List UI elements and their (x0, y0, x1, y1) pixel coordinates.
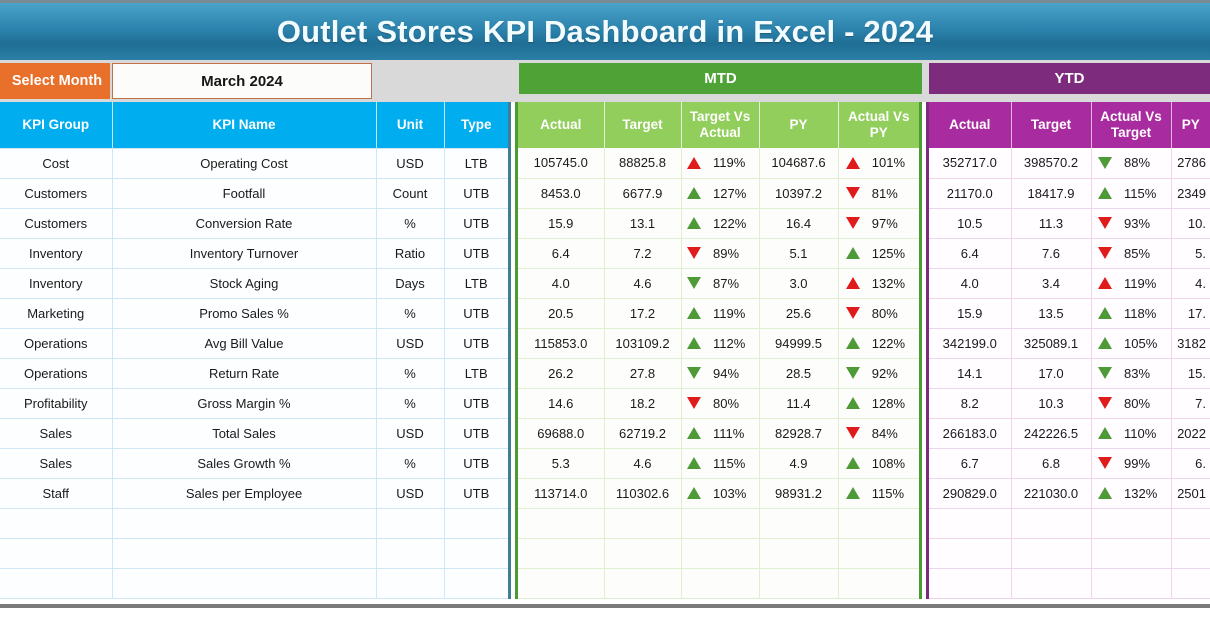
empty-cell (444, 538, 508, 568)
kpi-type-cell: UTB (444, 388, 508, 418)
kpi-type-cell: UTB (444, 418, 508, 448)
table-row[interactable]: StaffSales per EmployeeUSDUTB (0, 478, 508, 508)
percent-value: 127% (713, 186, 753, 201)
ytd-actual-vs-target-cell: 88% (1091, 148, 1171, 178)
triangle-up-icon (846, 157, 860, 169)
triangle-up-icon (846, 487, 860, 499)
triangle-down-icon (846, 307, 860, 319)
percent-value: 122% (872, 336, 912, 351)
kpi-unit-cell: % (376, 298, 444, 328)
kpi-unit-cell: % (376, 358, 444, 388)
mtd-py-cell: 98931.2 (759, 478, 838, 508)
kpi-type-cell: LTB (444, 148, 508, 178)
triangle-up-icon (846, 337, 860, 349)
table-row[interactable]: OperationsReturn Rate%LTB (0, 358, 508, 388)
kpi-grid: KPI GroupKPI NameUnitType CostOperating … (0, 102, 1210, 612)
empty-cell (1011, 508, 1091, 538)
percent-value: 119% (713, 155, 753, 170)
table-row[interactable]: 8.210.380%7. (929, 388, 1210, 418)
ytd-py-cell: 2349 (1171, 178, 1210, 208)
ytd-py-cell: 3182 (1171, 328, 1210, 358)
mtd-actual-cell: 20.5 (518, 298, 604, 328)
percent-value: 93% (1124, 216, 1164, 231)
mtd-target-vs-actual-cell: 112% (681, 328, 759, 358)
percent-value: 108% (872, 456, 912, 471)
empty-cell (1091, 538, 1171, 568)
ytd-col-actual-vs-target[interactable]: Actual Vs Target (1091, 102, 1171, 148)
ytd-actual-cell: 6.7 (929, 448, 1011, 478)
ytd-actual-cell: 290829.0 (929, 478, 1011, 508)
table-row[interactable]: 5.34.6115%4.9108% (518, 448, 919, 478)
kpi-name-cell: Inventory Turnover (112, 238, 376, 268)
table-row[interactable]: 14.117.083%15. (929, 358, 1210, 388)
ytd-target-cell: 11.3 (1011, 208, 1091, 238)
empty-cell (1011, 538, 1091, 568)
mtd-py-cell: 104687.6 (759, 148, 838, 178)
table-row[interactable]: 69688.062719.2111%82928.784% (518, 418, 919, 448)
ytd-actual-vs-target-cell: 132% (1091, 478, 1171, 508)
mtd-target-vs-actual-cell: 119% (681, 148, 759, 178)
mtd-target-vs-actual-cell: 115% (681, 448, 759, 478)
kpi-type-cell: LTB (444, 358, 508, 388)
percent-value: 85% (1124, 246, 1164, 261)
mtd-py-cell: 16.4 (759, 208, 838, 238)
mtd-py-cell: 94999.5 (759, 328, 838, 358)
triangle-up-icon (1098, 277, 1112, 289)
kpi-name-cell: Sales per Employee (112, 478, 376, 508)
ytd-actual-cell: 352717.0 (929, 148, 1011, 178)
mtd-col-target[interactable]: Target (604, 102, 681, 148)
percent-value: 80% (872, 306, 912, 321)
empty-cell (759, 568, 838, 598)
kpi-type-cell: UTB (444, 328, 508, 358)
mtd-target-cell: 7.2 (604, 238, 681, 268)
kpi-group-cell: Sales (0, 418, 112, 448)
mtd-py-cell: 82928.7 (759, 418, 838, 448)
empty-cell (838, 568, 919, 598)
mtd-target-vs-actual-cell: 127% (681, 178, 759, 208)
mtd-col-target-vs-actual[interactable]: Target Vs Actual (681, 102, 759, 148)
ytd-py-cell: 7. (1171, 388, 1210, 418)
mtd-actual-vs-py-cell: 115% (838, 478, 919, 508)
table-row[interactable]: 6.47.685%5. (929, 238, 1210, 268)
empty-cell (112, 508, 376, 538)
mtd-body: 105745.088825.8119%104687.6101%8453.0667… (518, 148, 919, 598)
triangle-down-icon (1098, 247, 1112, 259)
mtd-actual-cell: 113714.0 (518, 478, 604, 508)
kpi-type-cell: UTB (444, 178, 508, 208)
kpi-group-cell: Cost (0, 148, 112, 178)
table-row[interactable]: 21170.018417.9115%2349 (929, 178, 1210, 208)
table-row[interactable]: 4.03.4119%4. (929, 268, 1210, 298)
kpi-type-cell: UTB (444, 298, 508, 328)
mtd-py-cell: 25.6 (759, 298, 838, 328)
empty-cell (929, 568, 1011, 598)
triangle-up-icon (687, 307, 701, 319)
empty-table-row[interactable] (929, 568, 1210, 598)
triangle-down-icon (846, 187, 860, 199)
table-row[interactable]: 8453.06677.9127%10397.281% (518, 178, 919, 208)
mtd-actual-cell: 5.3 (518, 448, 604, 478)
dashboard-title-banner: Outlet Stores KPI Dashboard in Excel - 2… (0, 0, 1210, 60)
table-row[interactable]: 15.913.1122%16.497% (518, 208, 919, 238)
ytd-target-cell: 17.0 (1011, 358, 1091, 388)
ytd-body: 352717.0398570.288%278621170.018417.9115… (929, 148, 1210, 598)
empty-table-row[interactable] (0, 508, 508, 538)
table-row[interactable]: InventoryStock AgingDaysLTB (0, 268, 508, 298)
mtd-target-cell: 103109.2 (604, 328, 681, 358)
mtd-actual-cell: 4.0 (518, 268, 604, 298)
mtd-actual-cell: 6.4 (518, 238, 604, 268)
kpi-unit-cell: Ratio (376, 238, 444, 268)
mtd-target-cell: 17.2 (604, 298, 681, 328)
ytd-actual-vs-target-cell: 85% (1091, 238, 1171, 268)
empty-cell (376, 538, 444, 568)
ytd-actual-vs-target-cell: 118% (1091, 298, 1171, 328)
mtd-actual-cell: 14.6 (518, 388, 604, 418)
kpi-unit-cell: USD (376, 418, 444, 448)
mtd-target-vs-actual-cell: 94% (681, 358, 759, 388)
mtd-actual-vs-py-cell: 81% (838, 178, 919, 208)
kpi-group-cell: Marketing (0, 298, 112, 328)
table-row[interactable]: 15.913.5118%17. (929, 298, 1210, 328)
percent-value: 92% (872, 366, 912, 381)
kpi-group-cell: Operations (0, 358, 112, 388)
mtd-target-vs-actual-cell: 89% (681, 238, 759, 268)
empty-table-row[interactable] (0, 538, 508, 568)
empty-cell (1091, 568, 1171, 598)
ytd-target-cell: 6.8 (1011, 448, 1091, 478)
triangle-up-icon (1098, 337, 1112, 349)
percent-value: 119% (713, 306, 753, 321)
percent-value: 115% (1124, 186, 1164, 201)
mtd-py-cell: 10397.2 (759, 178, 838, 208)
mtd-actual-cell: 105745.0 (518, 148, 604, 178)
kpi-group-cell: Staff (0, 478, 112, 508)
table-row[interactable]: SalesSales Growth %%UTB (0, 448, 508, 478)
mtd-actual-vs-py-cell: 101% (838, 148, 919, 178)
kpi-group-cell: Inventory (0, 268, 112, 298)
ytd-target-cell: 18417.9 (1011, 178, 1091, 208)
mtd-target-cell: 13.1 (604, 208, 681, 238)
percent-value: 97% (872, 216, 912, 231)
table-row[interactable]: CostOperating CostUSDLTB (0, 148, 508, 178)
kpi-group-cell: Customers (0, 178, 112, 208)
mtd-actual-vs-py-cell: 80% (838, 298, 919, 328)
percent-value: 88% (1124, 155, 1164, 170)
empty-table-row[interactable] (518, 538, 919, 568)
percent-value: 110% (1124, 426, 1164, 441)
mtd-actual-vs-py-cell: 84% (838, 418, 919, 448)
mtd-actual-cell: 69688.0 (518, 418, 604, 448)
table-row[interactable]: CustomersConversion Rate%UTB (0, 208, 508, 238)
mtd-target-cell: 6677.9 (604, 178, 681, 208)
ytd-actual-vs-target-cell: 80% (1091, 388, 1171, 418)
mtd-actual-cell: 8453.0 (518, 178, 604, 208)
ytd-actual-vs-target-cell: 93% (1091, 208, 1171, 238)
table-row[interactable]: InventoryInventory TurnoverRatioUTB (0, 238, 508, 268)
table-row[interactable]: 4.04.687%3.0132% (518, 268, 919, 298)
empty-cell (518, 508, 604, 538)
ytd-py-cell: 2501 (1171, 478, 1210, 508)
kpi-unit-cell: % (376, 388, 444, 418)
table-row[interactable]: 266183.0242226.5110%2022 (929, 418, 1210, 448)
kpi-group-cell: Customers (0, 208, 112, 238)
kpi-col-kpi-name[interactable]: KPI Name (112, 102, 376, 148)
dashboard-root: Outlet Stores KPI Dashboard in Excel - 2… (0, 0, 1210, 618)
empty-cell (929, 538, 1011, 568)
empty-cell (444, 508, 508, 538)
percent-value: 101% (872, 155, 912, 170)
triangle-down-icon (687, 247, 701, 259)
kpi-name-cell: Return Rate (112, 358, 376, 388)
mtd-target-cell: 88825.8 (604, 148, 681, 178)
percent-value: 89% (713, 246, 753, 261)
triangle-down-icon (846, 217, 860, 229)
ytd-actual-cell: 342199.0 (929, 328, 1011, 358)
kpi-unit-cell: % (376, 208, 444, 238)
percent-value: 128% (872, 396, 912, 411)
kpi-unit-cell: USD (376, 328, 444, 358)
kpi-type-cell: UTB (444, 208, 508, 238)
mtd-actual-cell: 15.9 (518, 208, 604, 238)
table-row[interactable]: ProfitabilityGross Margin %%UTB (0, 388, 508, 418)
kpi-info-block: KPI GroupKPI NameUnitType CostOperating … (0, 102, 511, 599)
ytd-actual-cell: 266183.0 (929, 418, 1011, 448)
mtd-target-cell: 110302.6 (604, 478, 681, 508)
ytd-actual-cell: 4.0 (929, 268, 1011, 298)
mtd-actual-vs-py-cell: 92% (838, 358, 919, 388)
mtd-actual-vs-py-cell: 97% (838, 208, 919, 238)
triangle-down-icon (1098, 397, 1112, 409)
mtd-py-cell: 4.9 (759, 448, 838, 478)
empty-cell (838, 538, 919, 568)
empty-cell (759, 508, 838, 538)
kpi-name-cell: Footfall (112, 178, 376, 208)
percent-value: 112% (713, 336, 753, 351)
triangle-up-icon (846, 397, 860, 409)
triangle-down-icon (1098, 457, 1112, 469)
kpi-col-type[interactable]: Type (444, 102, 508, 148)
empty-cell (1011, 568, 1091, 598)
mtd-header-row: ActualTargetTarget Vs ActualPYActual Vs … (518, 102, 919, 148)
percent-value: 99% (1124, 456, 1164, 471)
empty-cell (681, 568, 759, 598)
mtd-col-py[interactable]: PY (759, 102, 838, 148)
kpi-info-header-row: KPI GroupKPI NameUnitType (0, 102, 508, 148)
ytd-section-band: YTD (929, 63, 1210, 94)
empty-cell (0, 538, 112, 568)
table-row[interactable]: 20.517.2119%25.680% (518, 298, 919, 328)
empty-cell (929, 508, 1011, 538)
triangle-down-icon (687, 367, 701, 379)
kpi-name-cell: Operating Cost (112, 148, 376, 178)
triangle-down-icon (846, 427, 860, 439)
percent-value: 81% (872, 186, 912, 201)
empty-cell (518, 568, 604, 598)
mtd-target-cell: 4.6 (604, 268, 681, 298)
empty-table-row[interactable] (929, 508, 1210, 538)
mtd-target-vs-actual-cell: 122% (681, 208, 759, 238)
table-row[interactable]: SalesTotal SalesUSDUTB (0, 418, 508, 448)
ytd-actual-vs-target-cell: 119% (1091, 268, 1171, 298)
empty-cell (604, 508, 681, 538)
kpi-group-cell: Sales (0, 448, 112, 478)
ytd-actual-vs-target-cell: 110% (1091, 418, 1171, 448)
table-row[interactable]: 6.76.899%6. (929, 448, 1210, 478)
mtd-section-band: MTD (519, 63, 922, 94)
ytd-actual-vs-target-cell: 115% (1091, 178, 1171, 208)
triangle-up-icon (846, 277, 860, 289)
table-row[interactable]: 290829.0221030.0132%2501 (929, 478, 1210, 508)
ytd-target-cell: 221030.0 (1011, 478, 1091, 508)
empty-cell (1091, 508, 1171, 538)
empty-cell (604, 538, 681, 568)
empty-cell (681, 538, 759, 568)
percent-value: 132% (872, 276, 912, 291)
mtd-block: ActualTargetTarget Vs ActualPYActual Vs … (515, 102, 922, 599)
ytd-col-target[interactable]: Target (1011, 102, 1091, 148)
triangle-up-icon (687, 187, 701, 199)
mtd-table: ActualTargetTarget Vs ActualPYActual Vs … (518, 102, 919, 599)
table-row[interactable]: 352717.0398570.288%2786 (929, 148, 1210, 178)
mtd-target-vs-actual-cell: 119% (681, 298, 759, 328)
empty-table-row[interactable] (518, 508, 919, 538)
empty-cell (518, 538, 604, 568)
ytd-col-py[interactable]: PY (1171, 102, 1210, 148)
kpi-type-cell: LTB (444, 268, 508, 298)
table-row[interactable]: 342199.0325089.1105%3182 (929, 328, 1210, 358)
mtd-py-cell: 5.1 (759, 238, 838, 268)
ytd-actual-vs-target-cell: 105% (1091, 328, 1171, 358)
triangle-up-icon (687, 457, 701, 469)
ytd-actual-cell: 15.9 (929, 298, 1011, 328)
table-row[interactable]: 115853.0103109.2112%94999.5122% (518, 328, 919, 358)
table-row[interactable]: 113714.0110302.6103%98931.2115% (518, 478, 919, 508)
ytd-actual-cell: 6.4 (929, 238, 1011, 268)
percent-value: 118% (1124, 306, 1164, 321)
mtd-target-vs-actual-cell: 103% (681, 478, 759, 508)
kpi-col-unit[interactable]: Unit (376, 102, 444, 148)
ytd-py-cell: 5. (1171, 238, 1210, 268)
empty-cell (1171, 538, 1210, 568)
table-row[interactable]: MarketingPromo Sales %%UTB (0, 298, 508, 328)
triangle-down-icon (1098, 157, 1112, 169)
triangle-down-icon (1098, 217, 1112, 229)
percent-value: 80% (713, 396, 753, 411)
kpi-group-cell: Profitability (0, 388, 112, 418)
kpi-name-cell: Conversion Rate (112, 208, 376, 238)
triangle-up-icon (1098, 487, 1112, 499)
kpi-type-cell: UTB (444, 448, 508, 478)
triangle-up-icon (687, 427, 701, 439)
triangle-up-icon (687, 157, 701, 169)
kpi-info-body: CostOperating CostUSDLTBCustomersFootfal… (0, 148, 508, 598)
empty-cell (376, 508, 444, 538)
triangle-up-icon (687, 487, 701, 499)
triangle-down-icon (687, 397, 701, 409)
ytd-col-actual[interactable]: Actual (929, 102, 1011, 148)
mtd-col-actual-vs-py[interactable]: Actual Vs PY (838, 102, 919, 148)
ytd-actual-cell: 8.2 (929, 388, 1011, 418)
empty-table-row[interactable] (929, 538, 1210, 568)
mtd-target-vs-actual-cell: 111% (681, 418, 759, 448)
mtd-actual-vs-py-cell: 132% (838, 268, 919, 298)
kpi-name-cell: Promo Sales % (112, 298, 376, 328)
ytd-actual-cell: 21170.0 (929, 178, 1011, 208)
triangle-up-icon (846, 457, 860, 469)
ytd-py-cell: 2022 (1171, 418, 1210, 448)
ytd-target-cell: 13.5 (1011, 298, 1091, 328)
percent-value: 132% (1124, 486, 1164, 501)
kpi-type-cell: UTB (444, 478, 508, 508)
kpi-name-cell: Gross Margin % (112, 388, 376, 418)
empty-cell (444, 568, 508, 598)
percent-value: 84% (872, 426, 912, 441)
empty-cell (0, 508, 112, 538)
kpi-name-cell: Avg Bill Value (112, 328, 376, 358)
table-row[interactable]: 10.511.393%10. (929, 208, 1210, 238)
kpi-info-table: KPI GroupKPI NameUnitType CostOperating … (0, 102, 508, 599)
mtd-actual-vs-py-cell: 108% (838, 448, 919, 478)
percent-value: 87% (713, 276, 753, 291)
bottom-rule (0, 604, 1210, 608)
empty-cell (1171, 568, 1210, 598)
mtd-col-actual[interactable]: Actual (518, 102, 604, 148)
ytd-py-cell: 17. (1171, 298, 1210, 328)
mtd-target-vs-actual-cell: 80% (681, 388, 759, 418)
table-row[interactable]: 26.227.894%28.592% (518, 358, 919, 388)
kpi-type-cell: UTB (444, 238, 508, 268)
table-row[interactable]: 6.47.289%5.1125% (518, 238, 919, 268)
kpi-name-cell: Total Sales (112, 418, 376, 448)
empty-cell (112, 568, 376, 598)
page-title: Outlet Stores KPI Dashboard in Excel - 2… (277, 14, 933, 50)
percent-value: 83% (1124, 366, 1164, 381)
table-row[interactable]: CustomersFootfallCountUTB (0, 178, 508, 208)
empty-cell (604, 568, 681, 598)
ytd-py-cell: 15. (1171, 358, 1210, 388)
percent-value: 122% (713, 216, 753, 231)
ytd-py-cell: 4. (1171, 268, 1210, 298)
empty-cell (681, 508, 759, 538)
mtd-py-cell: 11.4 (759, 388, 838, 418)
ytd-target-cell: 242226.5 (1011, 418, 1091, 448)
empty-table-row[interactable] (518, 568, 919, 598)
table-row[interactable]: OperationsAvg Bill ValueUSDUTB (0, 328, 508, 358)
percent-value: 103% (713, 486, 753, 501)
ytd-target-cell: 7.6 (1011, 238, 1091, 268)
triangle-down-icon (846, 367, 860, 379)
table-row[interactable]: 105745.088825.8119%104687.6101% (518, 148, 919, 178)
ytd-target-cell: 10.3 (1011, 388, 1091, 418)
ytd-py-cell: 2786 (1171, 148, 1210, 178)
select-month-input[interactable]: March 2024 (112, 63, 372, 99)
triangle-up-icon (1098, 187, 1112, 199)
kpi-col-kpi-group[interactable]: KPI Group (0, 102, 112, 148)
mtd-actual-cell: 26.2 (518, 358, 604, 388)
mtd-actual-vs-py-cell: 122% (838, 328, 919, 358)
kpi-unit-cell: Count (376, 178, 444, 208)
empty-table-row[interactable] (0, 568, 508, 598)
triangle-up-icon (846, 247, 860, 259)
percent-value: 125% (872, 246, 912, 261)
ytd-table: ActualTargetActual Vs TargetPY 352717.03… (929, 102, 1210, 599)
percent-value: 115% (713, 456, 753, 471)
table-row[interactable]: 14.618.280%11.4128% (518, 388, 919, 418)
ytd-actual-cell: 10.5 (929, 208, 1011, 238)
percent-value: 111% (713, 426, 753, 441)
